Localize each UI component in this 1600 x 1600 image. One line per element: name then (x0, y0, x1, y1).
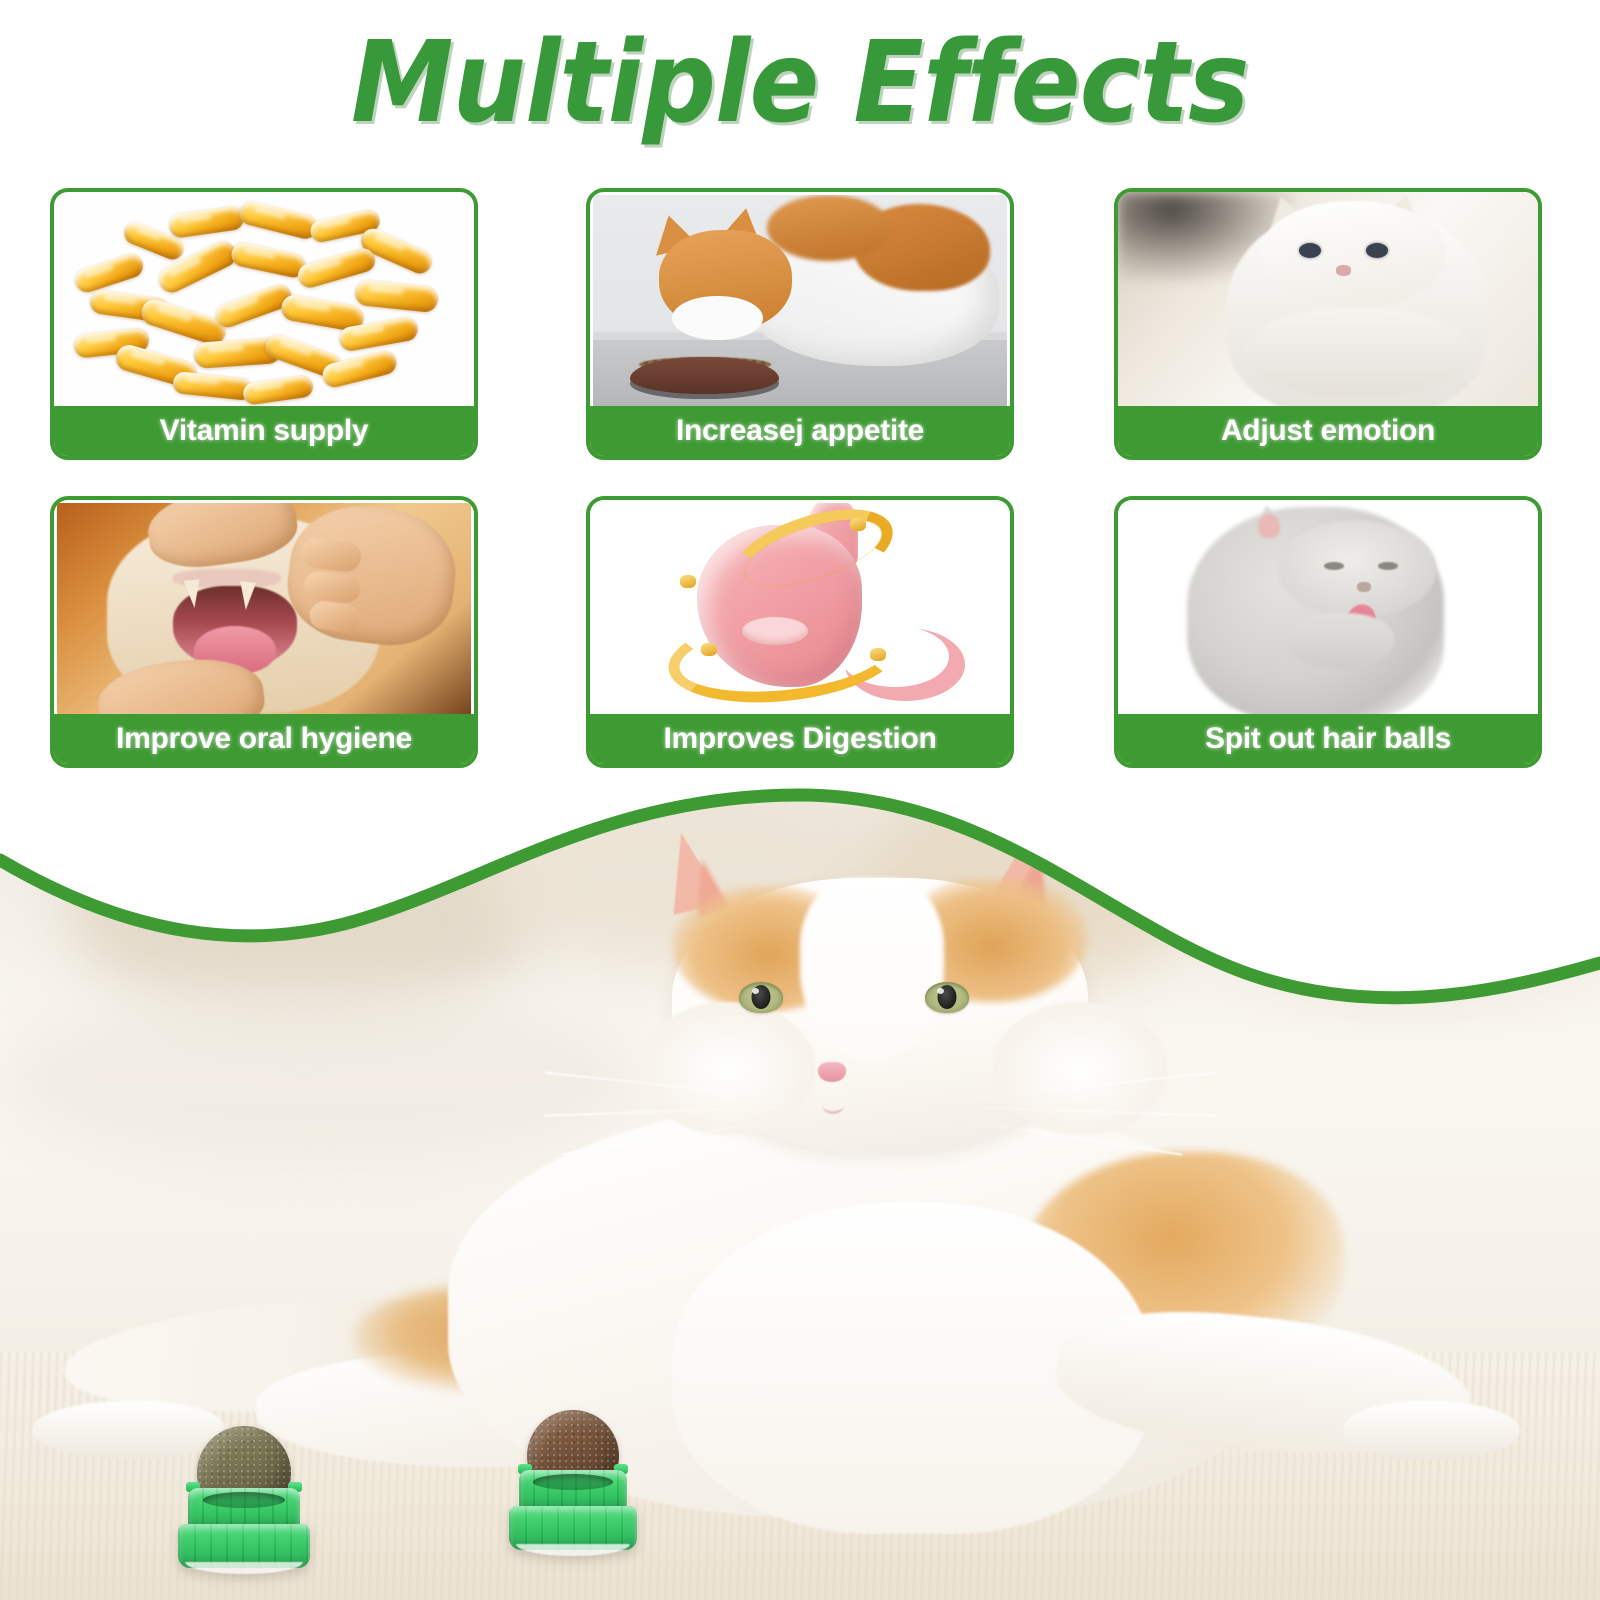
card-label-text: Spit out hair balls (1205, 722, 1451, 756)
benefit-card-improve-oral-hygiene[interactable]: Improve oral hygiene (50, 496, 478, 768)
hero-photo (0, 770, 1600, 1600)
cat-eye-right (925, 982, 969, 1013)
benefit-card-spit-out-hair-balls[interactable]: Spit out hair balls (1114, 496, 1542, 768)
card-image-stomach-ribbon (593, 503, 1007, 722)
card-image-kitten-eating (593, 195, 1007, 414)
card-label-bar: Improves Digestion (590, 714, 1010, 764)
card-label-text: Improves Digestion (664, 722, 937, 756)
benefit-card-increase-appetite[interactable]: Increasej appetite (586, 188, 1014, 460)
card-label-text: Vitamin supply (160, 414, 369, 448)
card-image-grooming-kitten (1121, 503, 1535, 722)
benefit-card-improves-digestion[interactable]: Improves Digestion (586, 496, 1014, 768)
product-catnip-lick-ball-right[interactable] (508, 1406, 638, 1562)
benefit-card-grid: Vitamin supply (50, 188, 1550, 768)
card-image-cat-teeth-check (57, 503, 471, 722)
card-label-bar: Vitamin supply (54, 406, 474, 456)
card-label-text: Increasej appetite (676, 414, 924, 448)
benefit-card-adjust-emotion[interactable]: Adjust emotion (1114, 188, 1542, 460)
card-label-bar: Increasej appetite (590, 406, 1010, 456)
hero-section (0, 770, 1600, 1600)
card-label-text: Improve oral hygiene (116, 722, 412, 756)
product-infographic-page: Multiple Effects (0, 0, 1600, 1600)
page-title: Multiple Effects (351, 27, 1249, 139)
stomach-illustration (593, 503, 1007, 722)
card-label-bar: Spit out hair balls (1118, 714, 1538, 764)
card-label-bar: Adjust emotion (1118, 406, 1538, 456)
card-image-vitamin-capsules (57, 195, 471, 414)
card-label-bar: Improve oral hygiene (54, 714, 474, 764)
grooming-kitten-illustration (1121, 503, 1535, 722)
product-catnip-lick-ball-left[interactable] (176, 1420, 312, 1580)
cat-nose (818, 1062, 846, 1082)
capsule-pile-illustration (57, 195, 471, 414)
white-cat-illustration (1118, 192, 1538, 414)
cat-eye-left (739, 982, 783, 1013)
oral-hygiene-illustration (57, 503, 471, 722)
card-label-text: Adjust emotion (1221, 414, 1435, 448)
benefit-card-vitamin-supply[interactable]: Vitamin supply (50, 188, 478, 460)
title-area: Multiple Effects (0, 0, 1600, 165)
card-image-white-fluffy-cat (1118, 192, 1538, 414)
kitten-eating-illustration (593, 195, 1007, 414)
